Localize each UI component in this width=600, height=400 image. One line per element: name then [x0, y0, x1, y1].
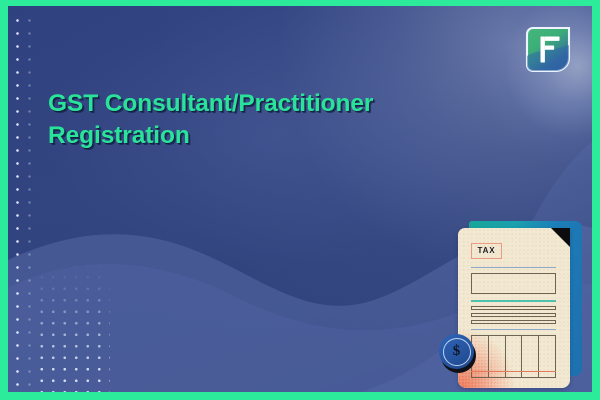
banner-canvas: GST Consultant/Practitioner Registration	[8, 6, 592, 392]
folded-corner-icon	[551, 228, 570, 247]
tax-document-illustration: TAX	[433, 216, 592, 392]
document-field-box	[471, 273, 556, 294]
document-text-line	[471, 313, 556, 317]
dot-column-dim	[27, 14, 32, 392]
document-front-page: TAX	[458, 228, 570, 388]
tax-badge: TAX	[471, 243, 502, 259]
dot-grid-decoration	[36, 260, 110, 392]
page-title: GST Consultant/Practitioner Registration	[48, 88, 448, 153]
leaf-f-monogram-logo[interactable]	[524, 25, 572, 74]
document-accent-line	[471, 300, 556, 302]
document-text-line	[471, 306, 556, 310]
coin-symbol: $	[453, 344, 461, 359]
document-rule-top	[471, 267, 556, 268]
document-text-line	[471, 320, 556, 324]
dot-column-bright	[15, 14, 20, 392]
dollar-coin-icon: $	[439, 334, 474, 369]
table-underline	[471, 371, 556, 372]
banner: GST Consultant/Practitioner Registration	[0, 0, 600, 400]
document-rule-bottom	[471, 329, 556, 330]
tax-badge-label: TAX	[477, 247, 495, 255]
